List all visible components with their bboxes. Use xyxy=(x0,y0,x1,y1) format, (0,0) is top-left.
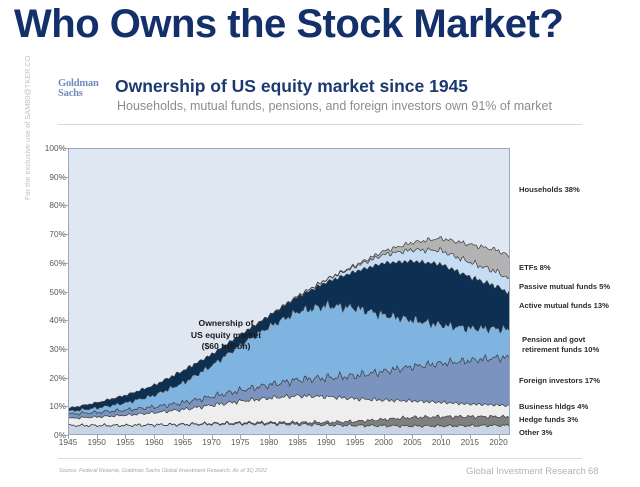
chart-subtitle: Households, mutual funds, pensions, and … xyxy=(117,99,552,113)
series-label-etfs: ETFs 8% xyxy=(519,263,551,273)
goldman-sachs-logo: Goldman Sachs xyxy=(58,79,99,99)
source-note: Source: Federal Reserve, Goldman Sachs G… xyxy=(59,468,267,474)
series-label-pension-and-govt-retirement-funds: Pension and govtretirement funds 10% xyxy=(522,335,599,354)
series-label-group: Other 3%Hedge funds 3%Business hldgs 4%F… xyxy=(0,140,640,450)
footer-organization: Global Investment Research xyxy=(466,466,586,477)
slide-title: Who Owns the Stock Market? xyxy=(14,2,563,47)
logo-line-2: Sachs xyxy=(58,89,99,99)
series-label-business-hldgs: Business hldgs 4% xyxy=(519,402,588,412)
series-label-hedge-funds: Hedge funds 3% xyxy=(519,415,578,425)
header-divider xyxy=(58,124,582,125)
footer-divider xyxy=(58,458,582,459)
series-label-foreign-investors: Foreign investors 17% xyxy=(519,376,600,386)
series-label-line: retirement funds 10% xyxy=(522,345,599,355)
series-label-other: Other 3% xyxy=(519,428,552,438)
chart-title: Ownership of US equity market since 1945 xyxy=(115,76,468,97)
series-label-active-mutual-funds: Active mutual funds 13% xyxy=(519,301,609,311)
page-number: 68 xyxy=(588,466,599,477)
series-label-passive-mutual-funds: Passive mutual funds 5% xyxy=(519,282,610,292)
series-label-line: Pension and govt xyxy=(522,335,599,345)
series-label-households: Households 38% xyxy=(519,185,580,195)
